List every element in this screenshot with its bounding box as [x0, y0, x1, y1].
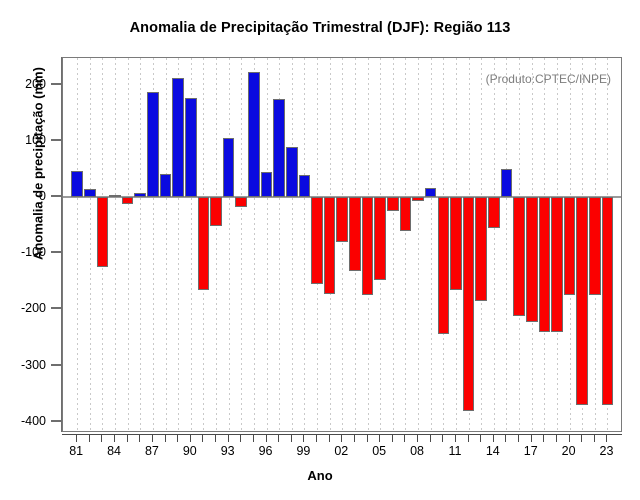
y-tick-mark — [51, 251, 61, 253]
bar-2009 — [425, 188, 437, 198]
x-tick-mark — [341, 435, 342, 442]
gridline — [115, 58, 116, 431]
x-tick-mark — [442, 435, 443, 442]
y-tick-mark — [51, 364, 61, 366]
gridline — [229, 58, 230, 431]
bar-2005 — [374, 197, 386, 280]
bar-2018 — [539, 197, 551, 332]
gridline — [90, 58, 91, 431]
x-tick-mark — [367, 435, 368, 442]
bar-2002 — [336, 197, 348, 242]
y-tick-mark — [51, 139, 61, 141]
x-tick-label: 17 — [524, 444, 538, 458]
y-tick-label: -300 — [0, 358, 46, 372]
x-tick-mark — [89, 435, 90, 442]
y-tick-mark — [51, 307, 61, 309]
gridline — [77, 58, 78, 431]
x-tick-label: 93 — [221, 444, 235, 458]
bar-2015 — [501, 169, 513, 197]
bar-1986 — [134, 193, 146, 197]
x-tick-mark — [354, 435, 355, 442]
x-tick-mark — [316, 435, 317, 442]
bar-2008 — [412, 197, 424, 201]
bar-1985 — [122, 197, 134, 204]
x-tick-mark — [240, 435, 241, 442]
page-title: Anomalia de Precipitação Trimestral (DJF… — [0, 20, 640, 36]
x-tick-label: 05 — [372, 444, 386, 458]
gridline — [418, 58, 419, 431]
x-tick-mark — [569, 435, 570, 442]
bar-1991 — [198, 197, 210, 290]
x-tick-mark — [266, 435, 267, 442]
bar-2020 — [564, 197, 576, 295]
x-tick-mark — [543, 435, 544, 442]
x-tick-mark — [278, 435, 279, 442]
y-tick-mark — [51, 83, 61, 85]
x-tick-mark — [556, 435, 557, 442]
bar-2012 — [463, 197, 475, 410]
x-tick-mark — [139, 435, 140, 442]
x-tick-label: 96 — [259, 444, 273, 458]
x-tick-mark — [291, 435, 292, 442]
chart-root: Anomalia de Precipitação Trimestral (DJF… — [0, 0, 640, 500]
bar-1983 — [97, 197, 109, 267]
bar-1988 — [160, 174, 172, 198]
bar-1997 — [273, 99, 285, 197]
x-tick-label: 08 — [410, 444, 424, 458]
x-tick-mark — [606, 435, 607, 442]
bar-1981 — [71, 171, 83, 197]
gridline — [140, 58, 141, 431]
x-tick-mark — [101, 435, 102, 442]
x-tick-mark — [228, 435, 229, 442]
x-tick-label: 14 — [486, 444, 500, 458]
bar-2007 — [400, 197, 412, 231]
x-tick-mark — [202, 435, 203, 442]
x-tick-label: 23 — [600, 444, 614, 458]
bar-1993 — [223, 138, 235, 197]
gridline — [216, 58, 217, 431]
bar-2022 — [589, 197, 601, 295]
x-tick-mark — [392, 435, 393, 442]
x-tick-mark — [455, 435, 456, 442]
x-tick-mark — [76, 435, 77, 442]
x-tick-mark — [303, 435, 304, 442]
gridline — [342, 58, 343, 431]
y-tick-label: -400 — [0, 414, 46, 428]
plot-frame: (Produto:CPTEC/INPE) — [62, 57, 622, 432]
x-tick-mark — [581, 435, 582, 442]
bar-2017 — [526, 197, 538, 322]
x-axis-line — [62, 434, 622, 435]
bar-2011 — [450, 197, 462, 290]
x-tick-mark — [505, 435, 506, 442]
x-tick-label: 02 — [334, 444, 348, 458]
x-tick-label: 90 — [183, 444, 197, 458]
x-tick-mark — [165, 435, 166, 442]
bar-2021 — [576, 197, 588, 405]
bar-2014 — [488, 197, 500, 228]
y-tick-mark — [51, 420, 61, 422]
x-axis-title: Ano — [0, 468, 640, 483]
y-tick-mark — [51, 195, 61, 197]
gridline — [166, 58, 167, 431]
bar-1995 — [248, 72, 260, 197]
credit-annotation: (Produto:CPTEC/INPE) — [486, 72, 611, 86]
x-tick-mark — [127, 435, 128, 442]
x-tick-mark — [190, 435, 191, 442]
x-tick-mark — [480, 435, 481, 442]
bar-2016 — [513, 197, 525, 316]
bar-2006 — [387, 197, 399, 211]
plot-area — [63, 58, 621, 431]
gridline — [304, 58, 305, 431]
gridline — [241, 58, 242, 431]
x-tick-mark — [177, 435, 178, 442]
bar-2019 — [551, 197, 563, 332]
bar-1989 — [172, 78, 184, 197]
x-tick-mark — [152, 435, 153, 442]
gridline — [405, 58, 406, 431]
bar-2003 — [349, 197, 361, 271]
x-tick-label: 99 — [296, 444, 310, 458]
x-tick-mark — [594, 435, 595, 442]
x-tick-mark — [329, 435, 330, 442]
y-axis-title: Anomalia de precipitação (mm) — [31, 0, 46, 354]
gridline — [292, 58, 293, 431]
x-tick-mark — [430, 435, 431, 442]
x-tick-mark — [493, 435, 494, 442]
x-tick-mark — [215, 435, 216, 442]
x-tick-label: 11 — [448, 444, 461, 458]
bar-1992 — [210, 197, 222, 226]
x-tick-label: 81 — [69, 444, 83, 458]
x-tick-mark — [114, 435, 115, 442]
bar-2013 — [475, 197, 487, 301]
x-tick-mark — [379, 435, 380, 442]
gridline — [393, 58, 394, 431]
bar-1999 — [299, 175, 311, 197]
x-tick-mark — [468, 435, 469, 442]
bar-2001 — [324, 197, 336, 294]
x-tick-mark — [417, 435, 418, 442]
x-tick-mark — [531, 435, 532, 442]
bar-1984 — [109, 195, 121, 198]
gridline — [494, 58, 495, 431]
bar-2010 — [438, 197, 450, 333]
bar-1994 — [235, 197, 247, 207]
bar-1990 — [185, 98, 197, 197]
x-tick-label: 84 — [107, 444, 121, 458]
gridline — [128, 58, 129, 431]
x-tick-mark — [253, 435, 254, 442]
bar-2004 — [362, 197, 374, 295]
bar-2023 — [602, 197, 614, 405]
x-tick-label: 20 — [562, 444, 576, 458]
x-tick-mark — [404, 435, 405, 442]
bar-1998 — [286, 147, 298, 198]
gridline — [431, 58, 432, 431]
bar-1987 — [147, 92, 159, 198]
bar-2000 — [311, 197, 323, 284]
bar-1982 — [84, 189, 96, 197]
x-tick-label: 87 — [145, 444, 159, 458]
x-tick-mark — [518, 435, 519, 442]
bar-1996 — [261, 172, 273, 197]
gridline — [267, 58, 268, 431]
gridline — [506, 58, 507, 431]
